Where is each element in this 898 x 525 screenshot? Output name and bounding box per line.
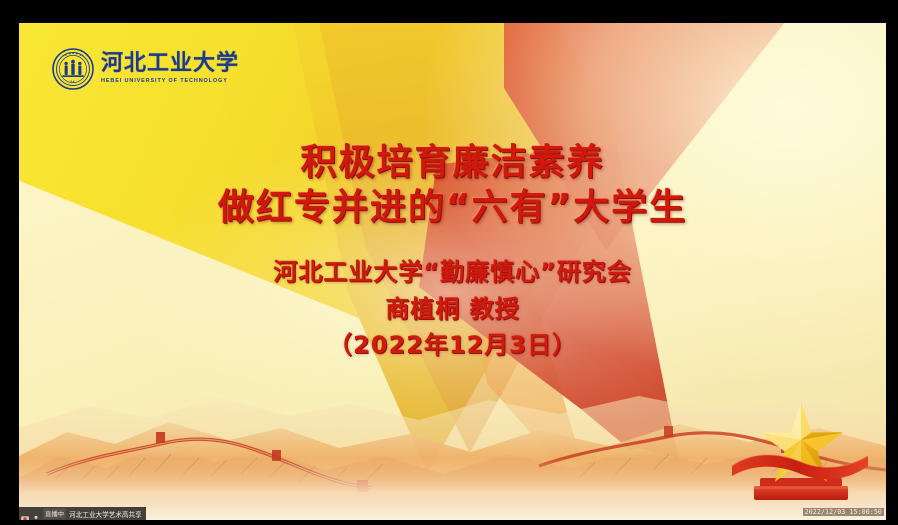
gold-star-with-ribbon-emblem bbox=[726, 394, 876, 514]
video-player-screen: 河北工业大学 HEBEI UNIVERSITY OF TECHNOLOGY 积极… bbox=[0, 0, 898, 525]
live-badge: 直播中 bbox=[43, 508, 66, 519]
presentation-slide: 河北工业大学 HEBEI UNIVERSITY OF TECHNOLOGY 积极… bbox=[19, 23, 886, 520]
live-stream-status-bar[interactable]: 直播中 河北工业大学艺术高共享 bbox=[19, 507, 146, 520]
right-glow bbox=[426, 23, 886, 383]
university-name-block: 河北工业大学 HEBEI UNIVERSITY OF TECHNOLOGY bbox=[101, 53, 239, 84]
stream-title: 河北工业大学艺术高共享 bbox=[69, 509, 142, 519]
university-seal-icon bbox=[52, 48, 94, 90]
university-logo: 河北工业大学 HEBEI UNIVERSITY OF TECHNOLOGY bbox=[52, 48, 239, 90]
recording-timestamp: 2022/12/03 15:00:50 bbox=[803, 508, 884, 516]
university-name-en: HEBEI UNIVERSITY OF TECHNOLOGY bbox=[101, 79, 242, 84]
record-icon bbox=[21, 510, 29, 518]
university-name-cn: 河北工业大学 bbox=[101, 53, 239, 75]
user-icon bbox=[32, 510, 40, 518]
